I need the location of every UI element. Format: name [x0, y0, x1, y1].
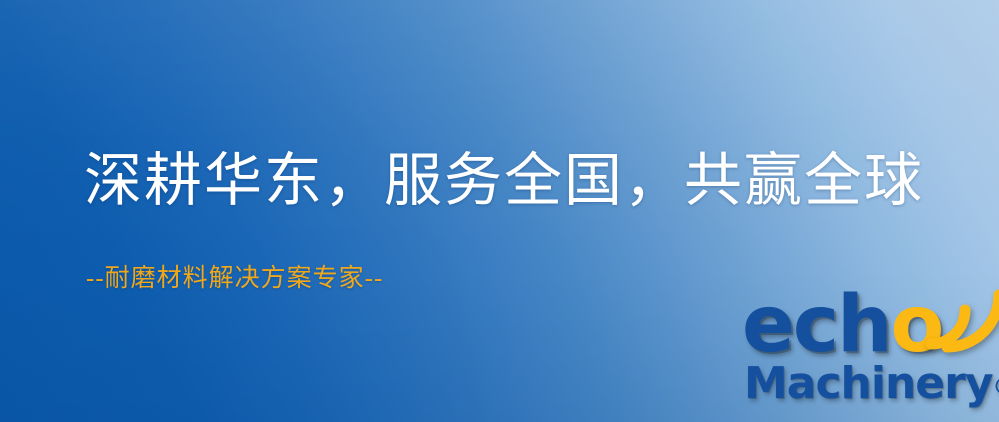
- logo-subtext: Machinery®: [744, 362, 999, 406]
- banner-subtitle: --耐磨材料解决方案专家--: [86, 266, 383, 291]
- echo-machinery-logo: echo Machinery®: [742, 292, 994, 420]
- registered-trademark-icon: ®: [993, 375, 999, 400]
- banner-headline: 深耕华东，服务全国，共赢全球: [84, 152, 924, 210]
- signal-waves-icon: [925, 290, 989, 352]
- hero-banner: 深耕华东，服务全国，共赢全球 --耐磨材料解决方案专家-- echo Machi…: [0, 0, 999, 422]
- logo-wordmark: echo: [742, 286, 942, 364]
- logo-text-ech: ech: [742, 280, 891, 370]
- logo-text-machinery: Machinery: [744, 358, 993, 409]
